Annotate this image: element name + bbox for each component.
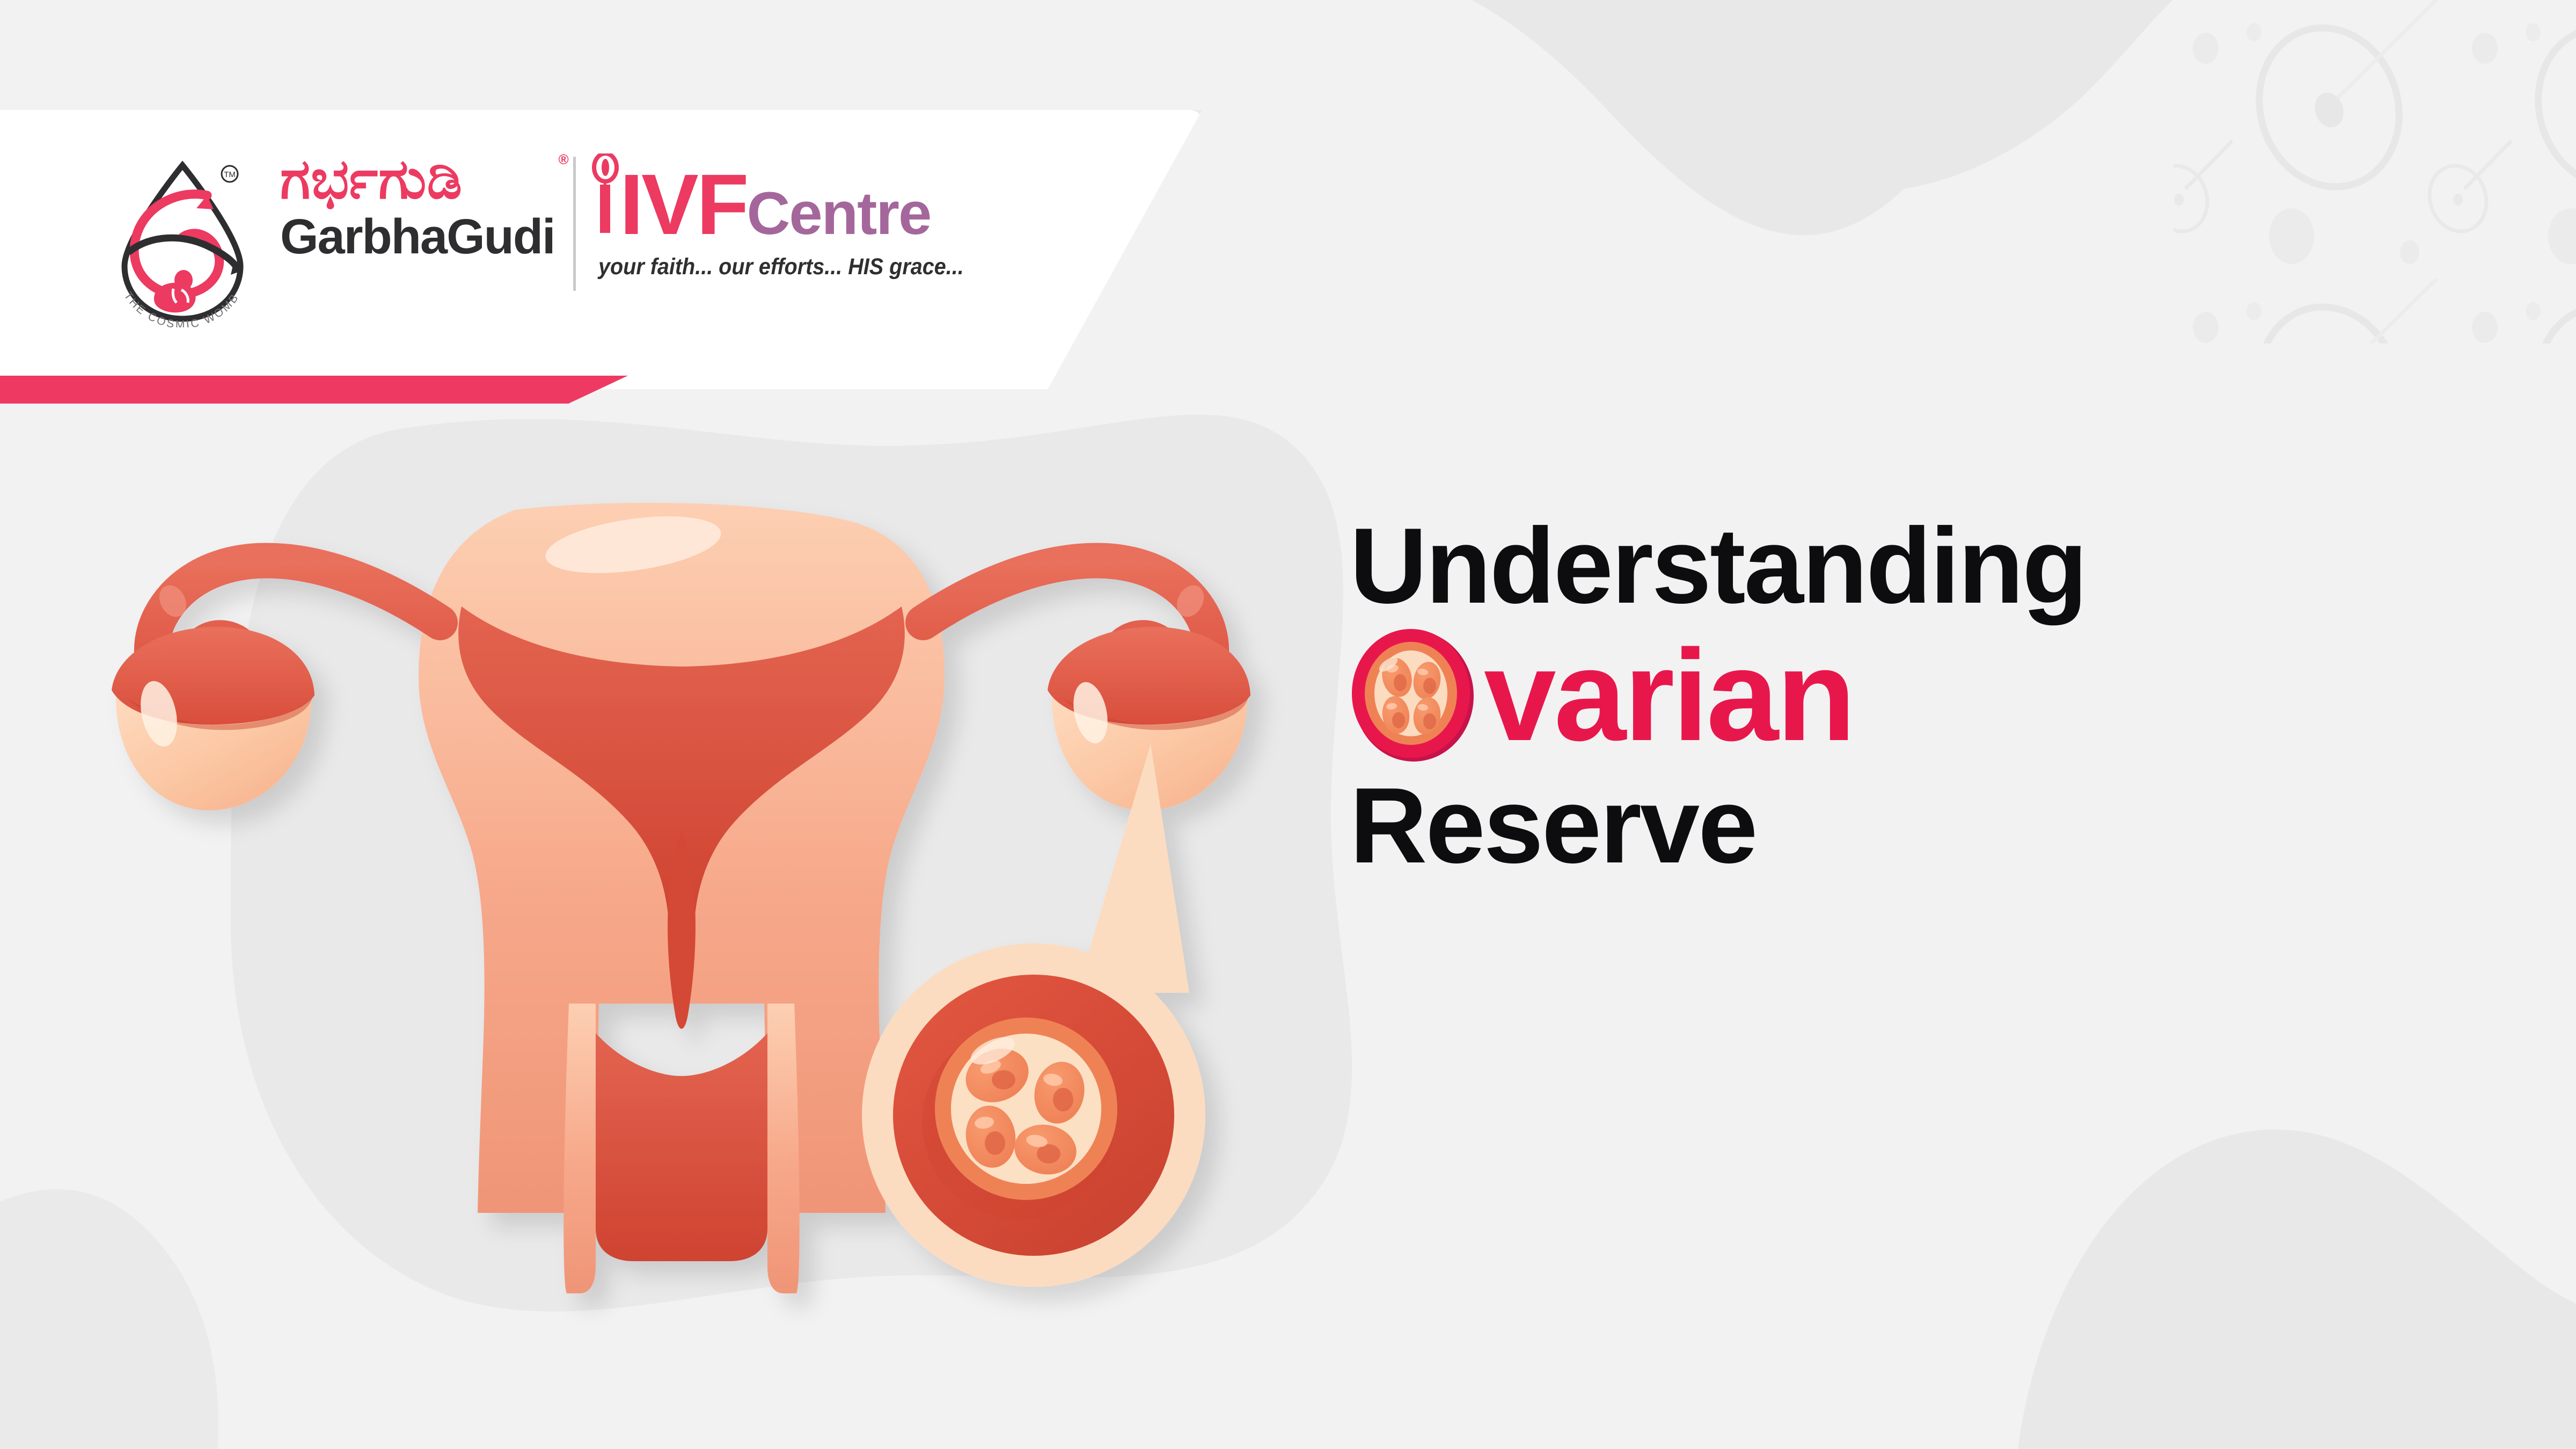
brand-name-group: ಗರ್ಭಗುಡಿ ® GarbhaGudi — [280, 150, 571, 261]
logo-wordmark: ಗರ್ಭಗುಡಿ ® GarbhaGudi IVF Centre — [280, 150, 996, 291]
vaginal-canal — [596, 1033, 767, 1261]
brand-name-english: GarbhaGudi — [280, 212, 555, 261]
kannada-trademark-symbol: ® — [558, 151, 568, 168]
headline-ovarian-text: varian — [1484, 638, 1854, 755]
ovary-follicle-closeup — [862, 943, 1205, 1287]
ivf-centre-group: IVF Centre your faith... our efforts... … — [591, 150, 996, 280]
headline-line-3: Reserve — [1350, 775, 2520, 877]
cosmic-womb-teardrop-icon: TM THE COSMIC WOMB — [102, 156, 263, 327]
logo-block[interactable]: TM THE COSMIC WOMB ಗರ್ಭಗುಡಿ ® GarbhaGudi — [102, 150, 996, 327]
top-right-blob — [1385, 0, 2211, 192]
svg-text:TM: TM — [224, 170, 236, 179]
centre-label: Centre — [747, 185, 931, 242]
brand-name-kannada: ಗರ್ಭಗುಡಿ — [280, 150, 555, 209]
ivf-label: IVF — [620, 164, 747, 245]
bottom-right-blob — [2007, 1130, 2576, 1449]
sperm-dot-icon — [591, 153, 620, 234]
logo-tagline: your faith... our efforts... HIS grace..… — [598, 254, 964, 280]
headline-line-2: varian — [1346, 629, 2520, 763]
poster-canvas: TM THE COSMIC WOMB ಗರ್ಭಗುಡಿ ® GarbhaGudi — [0, 0, 2576, 1449]
anatomy-svg — [32, 445, 1331, 1428]
ovary-cross-section-o-icon — [1346, 629, 1481, 763]
headline-line-1: Understanding — [1350, 515, 2520, 617]
headline-block: Understanding — [1350, 515, 2520, 877]
logo-divider — [573, 157, 576, 291]
uterus-ovaries-anatomy-illustration — [32, 445, 1331, 1428]
logo-accent-bar — [0, 376, 628, 404]
